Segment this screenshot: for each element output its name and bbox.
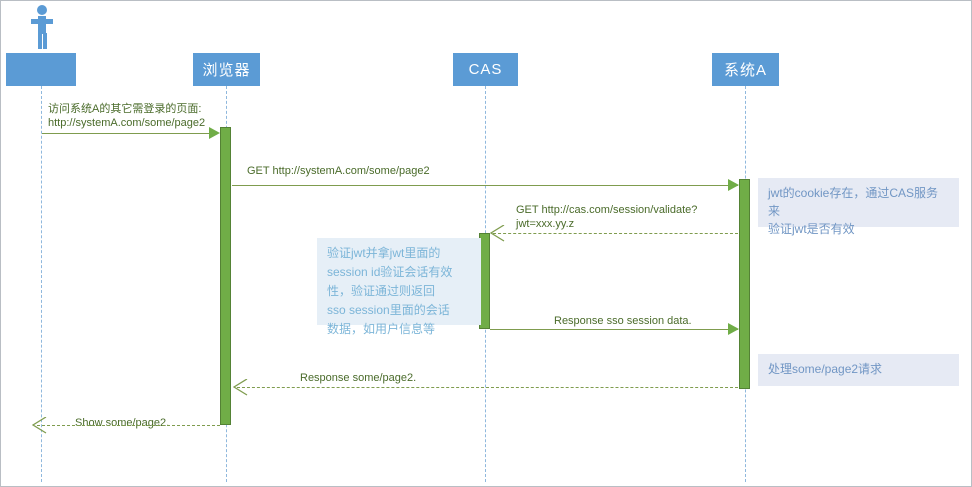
actor-leg-right-icon (43, 33, 47, 49)
actor-body-icon (38, 16, 46, 34)
message-2-arrowhead-icon (728, 179, 739, 191)
message-5-line (237, 387, 738, 388)
message-2-line (232, 185, 738, 186)
actor-head-icon (37, 5, 47, 15)
user-actor-icon (31, 5, 53, 49)
note-validate-session-line2: session id验证会话有效 (327, 263, 471, 282)
note-validate-session: 验证jwt并拿jwt里面的 session id验证会话有效 性，验证通过则返回… (317, 238, 481, 325)
message-3-label-line2: jwt=xxx.yy.z (516, 217, 574, 231)
note-validate-session-line1: 验证jwt并拿jwt里面的 (327, 244, 471, 263)
activation-bar-systema (739, 179, 750, 389)
participant-systema-label: 系统A (724, 59, 767, 80)
message-1-arrowhead-icon (209, 127, 220, 139)
message-4-arrowhead-icon (728, 323, 739, 335)
message-1-label-line2: http://systemA.com/some/page2 (48, 116, 205, 130)
sequence-diagram-canvas: 浏览器 CAS 系统A 访问系统A的其它需登录的页面: http://syste… (0, 0, 972, 487)
activation-bar-browser (220, 127, 231, 425)
note-handle-request: 处理some/page2请求 (758, 354, 959, 386)
note-jwt-cookie: jwt的cookie存在，通过CAS服务来 验证jwt是否有效 (758, 178, 959, 227)
participant-actor[interactable] (6, 53, 76, 86)
participant-cas[interactable]: CAS (453, 53, 518, 86)
message-1-label-line1: 访问系统A的其它需登录的页面: (48, 102, 201, 116)
participant-browser[interactable]: 浏览器 (193, 53, 260, 86)
note-jwt-cookie-line1: jwt的cookie存在，通过CAS服务来 (768, 184, 949, 220)
note-validate-session-line5: 数据，如用户信息等 (327, 320, 471, 339)
message-2-label-line1: GET http://systemA.com/some/page2 (247, 164, 430, 178)
note-validate-session-line4: sso session里面的会话 (327, 301, 471, 320)
message-4-line (490, 329, 738, 330)
message-5-label-line1: Response some/page2. (300, 371, 416, 385)
message-6-line (37, 425, 220, 426)
message-3-label-line1: GET http://cas.com/session/validate? (516, 203, 697, 217)
message-4-label-line1: Response sso session data. (554, 314, 692, 328)
note-handle-request-line1: 处理some/page2请求 (768, 360, 949, 378)
message-1-line (42, 133, 218, 134)
participant-cas-label: CAS (469, 61, 503, 78)
participant-browser-label: 浏览器 (202, 59, 250, 80)
message-6-label-line1: Show some/page2. (72, 416, 172, 430)
note-validate-session-line3: 性，验证通过则返回 (327, 282, 471, 301)
actor-leg-left-icon (38, 33, 42, 49)
note-jwt-cookie-line2: 验证jwt是否有效 (768, 220, 949, 238)
message-3-line (493, 233, 738, 234)
participant-systema[interactable]: 系统A (712, 53, 779, 86)
